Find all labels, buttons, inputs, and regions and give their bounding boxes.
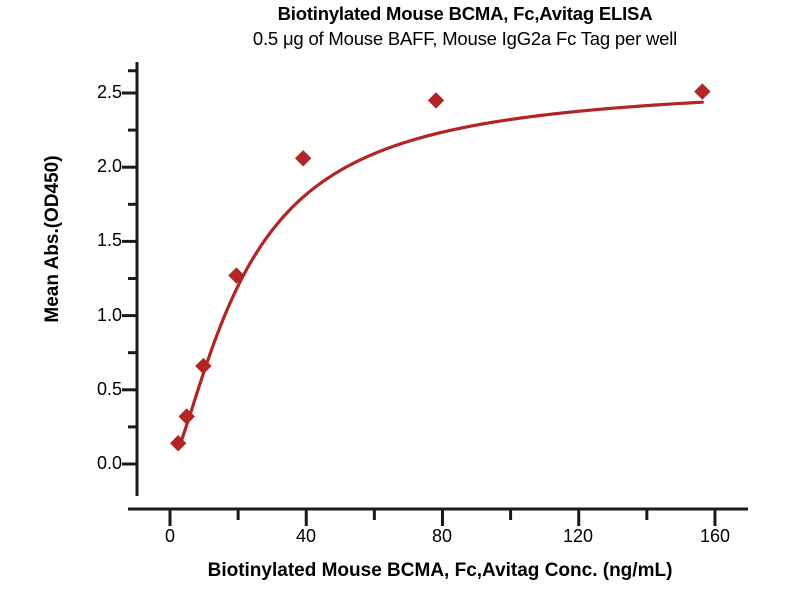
- y-axis-ticks: [122, 71, 137, 464]
- chart-figure: Biotinylated Mouse BCMA, Fc,Avitag ELISA…: [0, 0, 800, 600]
- x-axis-ticks: [170, 509, 715, 526]
- data-point-markers: [170, 83, 711, 451]
- plot-area: [0, 0, 800, 600]
- axis-spines: [128, 62, 748, 509]
- fit-curve: [178, 102, 702, 449]
